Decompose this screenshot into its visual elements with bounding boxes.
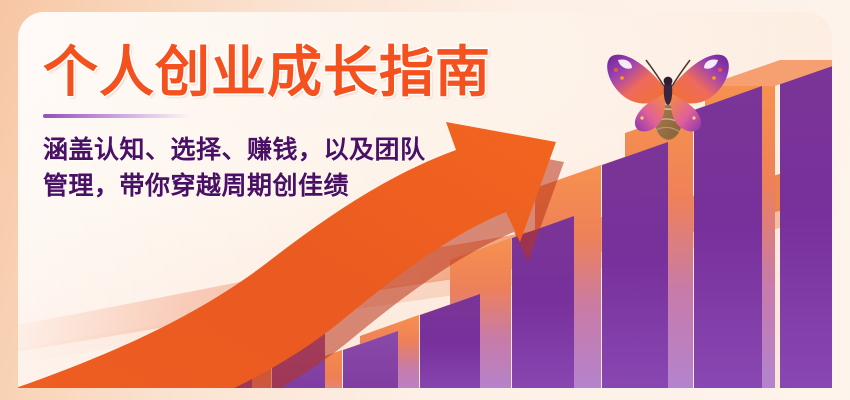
page-title: 个人创业成长指南 <box>43 44 663 100</box>
subtitle-line-2: 管理，带你穿越周期创佳绩 <box>43 169 563 205</box>
subtitle-line-1: 涵盖认知、选择、赚钱，以及团队 <box>43 133 563 169</box>
subtitle: 涵盖认知、选择、赚钱，以及团队 管理，带你穿越周期创佳绩 <box>43 133 563 204</box>
title-divider <box>43 114 190 118</box>
headline-block: 个人创业成长指南 涵盖认知、选择、赚钱，以及团队 管理，带你穿越周期创佳绩 <box>43 44 663 204</box>
promo-banner: 个人创业成长指南 涵盖认知、选择、赚钱，以及团队 管理，带你穿越周期创佳绩 <box>0 0 850 400</box>
